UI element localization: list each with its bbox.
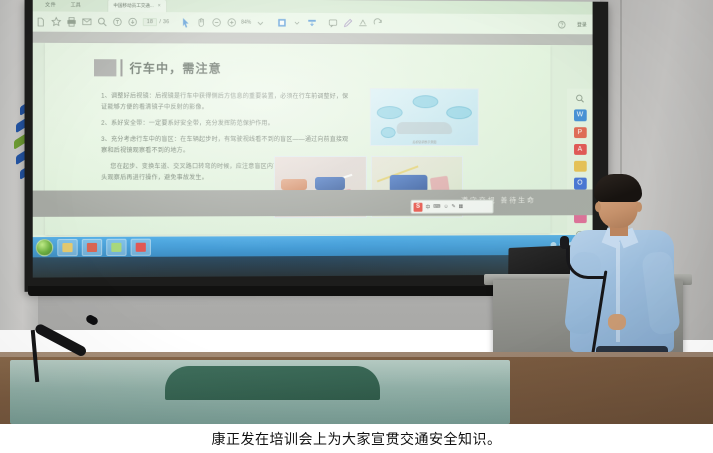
- zoom-in-icon[interactable]: [224, 15, 239, 30]
- projected-image: 文件 工具 中国移动员工交通... ×: [33, 0, 593, 278]
- presenter-ear-left: [595, 202, 601, 212]
- comment-icon[interactable]: [325, 16, 340, 31]
- email-icon[interactable]: [79, 14, 94, 29]
- toolbar-right-group: 登录: [554, 17, 592, 32]
- ime-input-bar[interactable]: S 中 ⌨ ☺ ✎ ▦: [411, 200, 494, 214]
- caption-area: 康正发在培训会上为大家宣贯交通安全知识。: [0, 424, 713, 453]
- mirror-adjustment-diagram: 后视镜调整示意图: [370, 88, 479, 146]
- settings-icon[interactable]: ✎: [452, 204, 456, 210]
- ime-logo-icon[interactable]: S: [414, 202, 423, 211]
- podium-microphone-head: [560, 236, 569, 249]
- page-total: / 36: [159, 19, 169, 25]
- pdf-reader-icon[interactable]: [131, 238, 151, 255]
- photo-caption: 康正发在培训会上为大家宣贯交通安全知识。: [212, 429, 502, 449]
- presenter-ear-right: [636, 202, 642, 212]
- convert-to-word-icon[interactable]: W: [574, 110, 587, 121]
- keyboard-icon[interactable]: ⌨: [433, 204, 440, 210]
- pdf-reader-window: 文件 工具 中国移动员工交通... ×: [33, 0, 593, 278]
- document-tab[interactable]: 中国移动员工交通... ×: [107, 0, 167, 12]
- fit-width-icon[interactable]: [304, 15, 319, 30]
- toolbox-icon[interactable]: ▦: [459, 204, 464, 210]
- zoom-out-icon[interactable]: [209, 15, 224, 30]
- slide-bullet-3: 3、充分考虑行车中的盲区：在车辆起步时，有驾驶视线看不到的盲区——通过向前直接观…: [101, 135, 351, 157]
- document-tab-label: 中国移动员工交通...: [113, 3, 153, 9]
- start-orb-icon[interactable]: [36, 239, 53, 256]
- presenter-hands: [608, 314, 626, 330]
- slide-title: 行车中，需注意: [130, 59, 222, 76]
- login-button[interactable]: 登录: [577, 21, 587, 28]
- table-edge-highlight: [0, 352, 713, 357]
- highlight-pen-icon[interactable]: [340, 16, 355, 31]
- download-icon[interactable]: [125, 14, 140, 29]
- ime-mode-label[interactable]: 中: [425, 203, 430, 210]
- convert-to-pdf-icon[interactable]: A: [574, 144, 587, 155]
- hand-tool-icon[interactable]: [194, 15, 209, 30]
- search-icon[interactable]: [94, 14, 109, 29]
- media-player-icon[interactable]: [82, 238, 102, 255]
- image-viewer-icon[interactable]: [106, 238, 126, 255]
- title-square-decoration: [94, 59, 116, 76]
- slide-footer-band: 遵守交规 善待生命: [33, 189, 593, 216]
- table-center-panel: [165, 366, 380, 400]
- title-divider: [120, 59, 122, 76]
- mirror-diagram-caption: 后视镜调整示意图: [371, 140, 478, 144]
- help-icon[interactable]: [554, 17, 569, 32]
- page-indicator: 18 / 36: [143, 18, 170, 26]
- slide-title-row: 行车中，需注意: [94, 59, 222, 77]
- close-icon[interactable]: ×: [158, 3, 161, 9]
- slide-bullet-1: 1、调整好后视镜：后视镜是行车中获得侧后方信息的重要装置，必须在行车前调整好，保…: [101, 92, 351, 115]
- page-current-input[interactable]: 18: [143, 18, 158, 26]
- new-document-icon[interactable]: [33, 14, 48, 29]
- rotate-icon[interactable]: [370, 16, 385, 31]
- star-bookmark-icon[interactable]: [48, 14, 63, 29]
- cursor-select-icon[interactable]: [179, 15, 194, 30]
- training-room-photo: 文件 工具 中国移动员工交通... ×: [0, 0, 713, 424]
- convert-to-ppt-icon[interactable]: P: [574, 127, 587, 138]
- print-icon[interactable]: [63, 14, 78, 29]
- chevron-down-icon[interactable]: [253, 15, 268, 30]
- text-select-icon[interactable]: [109, 14, 124, 29]
- signature-icon[interactable]: [355, 16, 370, 31]
- fit-page-icon[interactable]: [274, 15, 289, 30]
- zoom-level-label[interactable]: 84%: [241, 20, 251, 26]
- emoji-icon[interactable]: ☺: [443, 204, 448, 210]
- presenter-hair: [594, 174, 642, 202]
- search-panel-icon[interactable]: [574, 93, 587, 104]
- chevron-down-icon[interactable]: [289, 15, 304, 30]
- menu-tools[interactable]: 工具: [71, 1, 81, 8]
- pdf-toolbar: 18 / 36 84%: [33, 11, 593, 34]
- slide-bullet-2: 2、系好安全带：一定要系好安全带，充分发挥防范保护作用。: [101, 119, 351, 130]
- menu-file[interactable]: 文件: [45, 1, 56, 8]
- explorer-icon[interactable]: [57, 238, 77, 255]
